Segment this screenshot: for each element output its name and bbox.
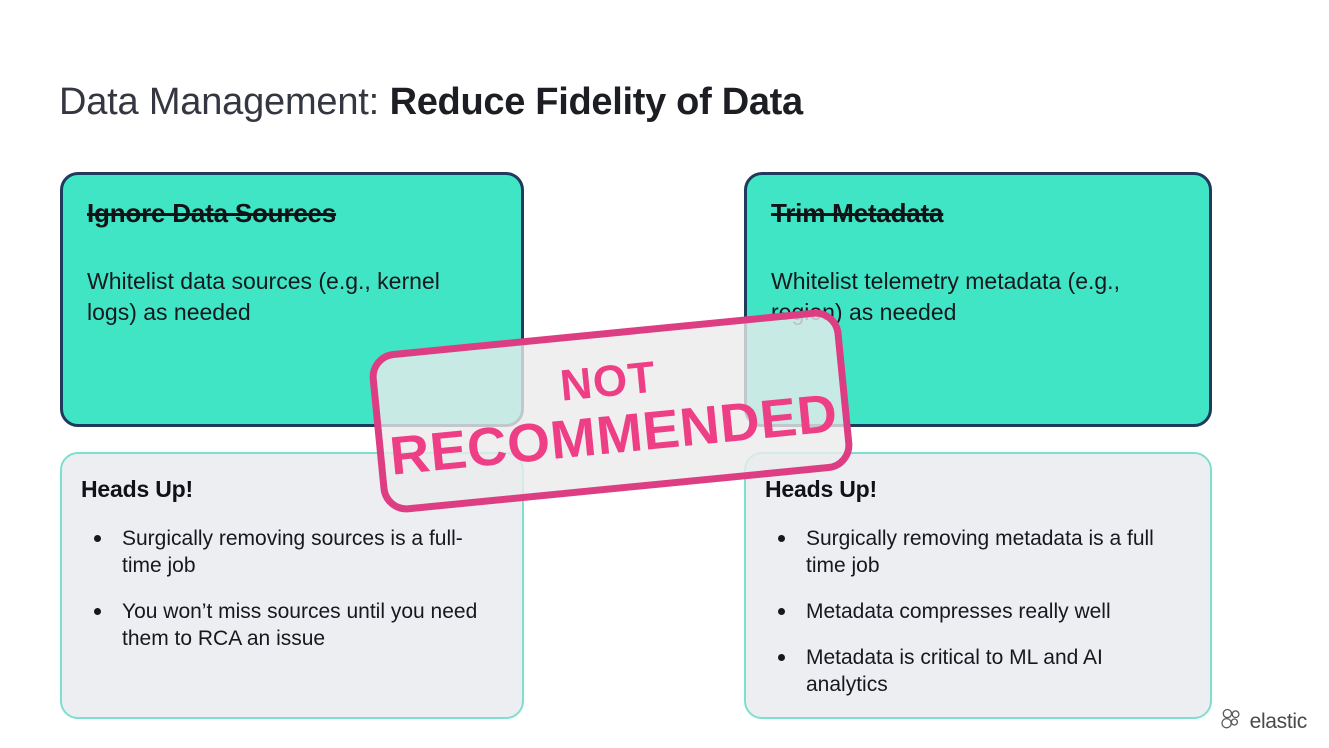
card-heading-ignore-data-sources: Ignore Data Sources (87, 198, 495, 228)
elastic-logo: elastic (1218, 706, 1307, 737)
heads-up-list-right: Surgically removing metadata is a full t… (765, 525, 1188, 698)
list-item: You won’t miss sources until you need th… (81, 598, 500, 652)
elastic-cluster-icon (1218, 706, 1244, 737)
page-title: Data Management: Reduce Fidelity of Data (59, 78, 803, 126)
heads-up-title-left: Heads Up! (81, 476, 500, 503)
card-body-ignore-data-sources: Whitelist data sources (e.g., kernel log… (87, 266, 495, 328)
page-title-bold: Reduce Fidelity of Data (390, 81, 803, 123)
list-item-label: Surgically removing metadata is a full t… (806, 527, 1154, 577)
card-ignore-data-sources: Ignore Data Sources Whitelist data sourc… (60, 172, 524, 427)
list-item-label: You won’t miss sources until you need th… (122, 600, 477, 650)
card-body-trim-metadata: Whitelist telemetry metadata (e.g., regi… (771, 266, 1183, 328)
page-title-light: Data Management: (59, 81, 379, 123)
list-item: Surgically removing sources is a full-ti… (81, 525, 500, 579)
list-item: Surgically removing metadata is a full t… (765, 525, 1188, 579)
card-heading-trim-metadata: Trim Metadata (771, 198, 1183, 228)
bullet-dot-icon (778, 535, 785, 542)
bullet-dot-icon (94, 535, 101, 542)
list-item: Metadata is critical to ML and AI analyt… (765, 644, 1188, 698)
card-trim-metadata: Trim Metadata Whitelist telemetry metada… (744, 172, 1212, 427)
heads-up-list-left: Surgically removing sources is a full-ti… (81, 525, 500, 652)
list-item-label: Metadata is critical to ML and AI analyt… (806, 646, 1103, 696)
bullet-dot-icon (778, 654, 785, 661)
card-heads-up-left: Heads Up! Surgically removing sources is… (60, 452, 524, 719)
stamp-line-not: NOT (558, 355, 658, 410)
elastic-wordmark: elastic (1250, 710, 1307, 734)
list-item-label: Surgically removing sources is a full-ti… (122, 527, 463, 577)
bullet-dot-icon (778, 608, 785, 615)
list-item: Metadata compresses really well (765, 598, 1188, 625)
card-heads-up-right: Heads Up! Surgically removing metadata i… (744, 452, 1212, 719)
heads-up-title-right: Heads Up! (765, 476, 1188, 503)
bullet-dot-icon (94, 608, 101, 615)
list-item-label: Metadata compresses really well (806, 600, 1111, 623)
